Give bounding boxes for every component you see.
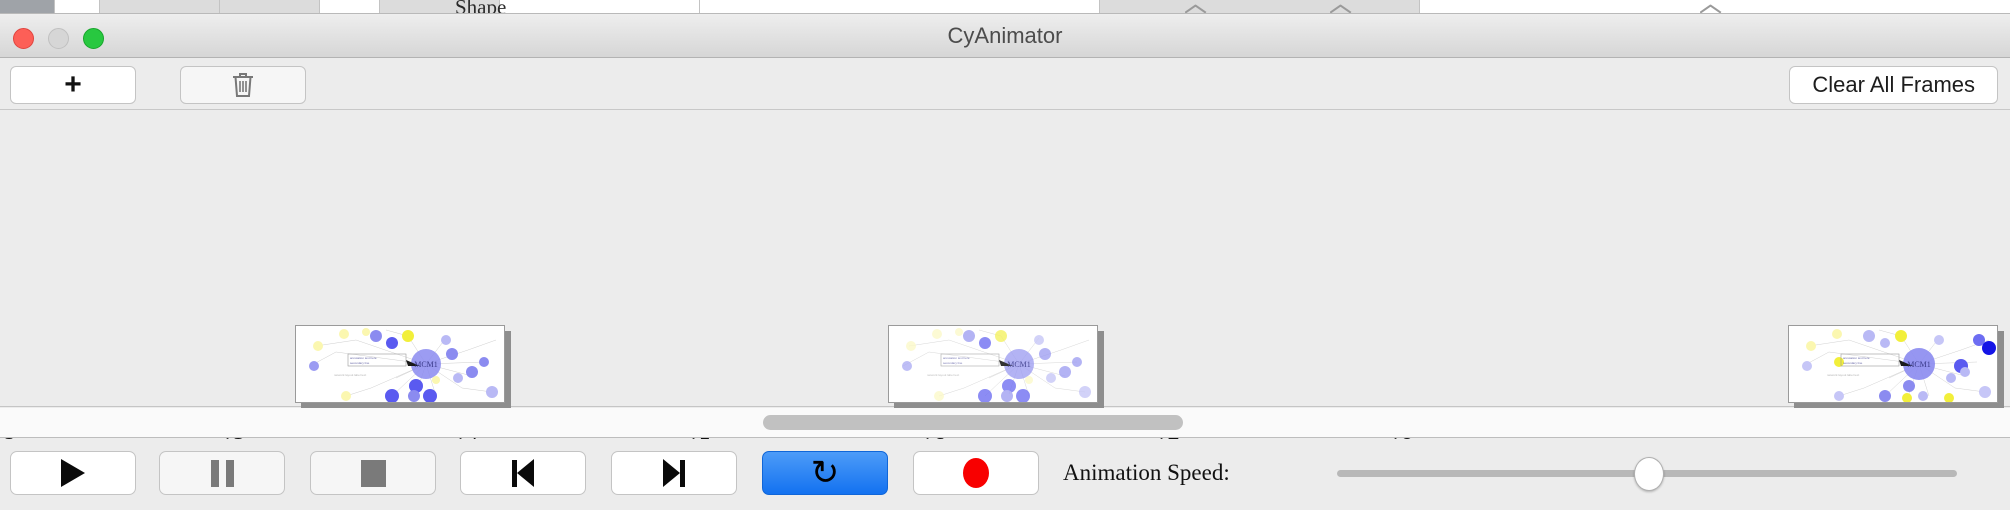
svg-text:secondary line: secondary line bbox=[943, 361, 963, 365]
title-bar[interactable]: CyAnimator bbox=[0, 14, 2010, 58]
delete-frame-button[interactable] bbox=[180, 66, 306, 104]
play-icon bbox=[61, 459, 85, 487]
scrollbar-thumb[interactable] bbox=[763, 415, 1183, 430]
chevron-icon bbox=[1700, 1, 1722, 13]
chevron-icon bbox=[1185, 1, 1207, 13]
plus-icon: + bbox=[64, 70, 82, 100]
svg-text:MCM1: MCM1 bbox=[1007, 360, 1031, 369]
playback-controls: ↻ Animation Speed: bbox=[0, 439, 2010, 510]
network-thumbnail: annotation text here secondary line netw… bbox=[888, 325, 1098, 403]
pause-icon bbox=[211, 460, 234, 487]
slider-thumb[interactable] bbox=[1634, 457, 1664, 491]
svg-text:annotation text here: annotation text here bbox=[943, 356, 970, 360]
frame-thumbnail-3[interactable]: annotation text here secondary line netw… bbox=[1788, 325, 2004, 409]
frame-thumbnail-1[interactable]: annotation text here secondary line netw… bbox=[295, 325, 511, 409]
svg-text:secondary line: secondary line bbox=[350, 361, 370, 365]
trash-icon bbox=[230, 71, 256, 99]
animation-speed-slider[interactable] bbox=[1337, 451, 1957, 495]
svg-text:MCM1: MCM1 bbox=[414, 360, 438, 369]
svg-text:MCM1: MCM1 bbox=[1907, 360, 1931, 369]
timeline-panel[interactable]: annotation text here secondary line netw… bbox=[0, 110, 2010, 407]
next-frame-button[interactable] bbox=[611, 451, 737, 495]
previous-frame-button[interactable] bbox=[460, 451, 586, 495]
svg-text:annotation text here: annotation text here bbox=[350, 356, 377, 360]
chevron-icon bbox=[1330, 1, 1352, 13]
network-thumbnail: annotation text here secondary line netw… bbox=[295, 325, 505, 403]
record-button[interactable] bbox=[913, 451, 1039, 495]
animation-speed-label: Animation Speed: bbox=[1063, 451, 1230, 495]
horizontal-scrollbar[interactable] bbox=[0, 408, 2010, 438]
network-thumbnail: annotation text here secondary line netw… bbox=[1788, 325, 1998, 403]
background-window-strip: Shape bbox=[0, 0, 2010, 14]
clear-all-frames-label: Clear All Frames bbox=[1812, 72, 1975, 98]
record-icon bbox=[963, 458, 989, 488]
skip-back-icon bbox=[512, 459, 534, 487]
stop-button[interactable] bbox=[310, 451, 436, 495]
pause-button[interactable] bbox=[159, 451, 285, 495]
frame-toolbar: + Clear All Frames bbox=[0, 58, 2010, 110]
cyanimator-window: Shape CyAnimator + bbox=[0, 0, 2010, 510]
loop-button[interactable]: ↻ bbox=[762, 451, 888, 495]
svg-text:annotation text here: annotation text here bbox=[1843, 356, 1870, 360]
svg-text:network layout label text: network layout label text bbox=[1827, 373, 1859, 377]
stop-icon bbox=[361, 460, 386, 487]
window-title: CyAnimator bbox=[0, 14, 2010, 58]
background-window-label: Shape bbox=[455, 0, 506, 14]
clear-all-frames-button[interactable]: Clear All Frames bbox=[1789, 66, 1998, 104]
loop-icon: ↻ bbox=[811, 456, 840, 490]
add-frame-button[interactable]: + bbox=[10, 66, 136, 104]
frame-thumbnail-2[interactable]: annotation text here secondary line netw… bbox=[888, 325, 1104, 409]
svg-text:network layout label text: network layout label text bbox=[927, 373, 959, 377]
svg-text:secondary line: secondary line bbox=[1843, 361, 1863, 365]
skip-forward-icon bbox=[663, 459, 685, 487]
play-button[interactable] bbox=[10, 451, 136, 495]
svg-text:network layout label text: network layout label text bbox=[334, 373, 366, 377]
